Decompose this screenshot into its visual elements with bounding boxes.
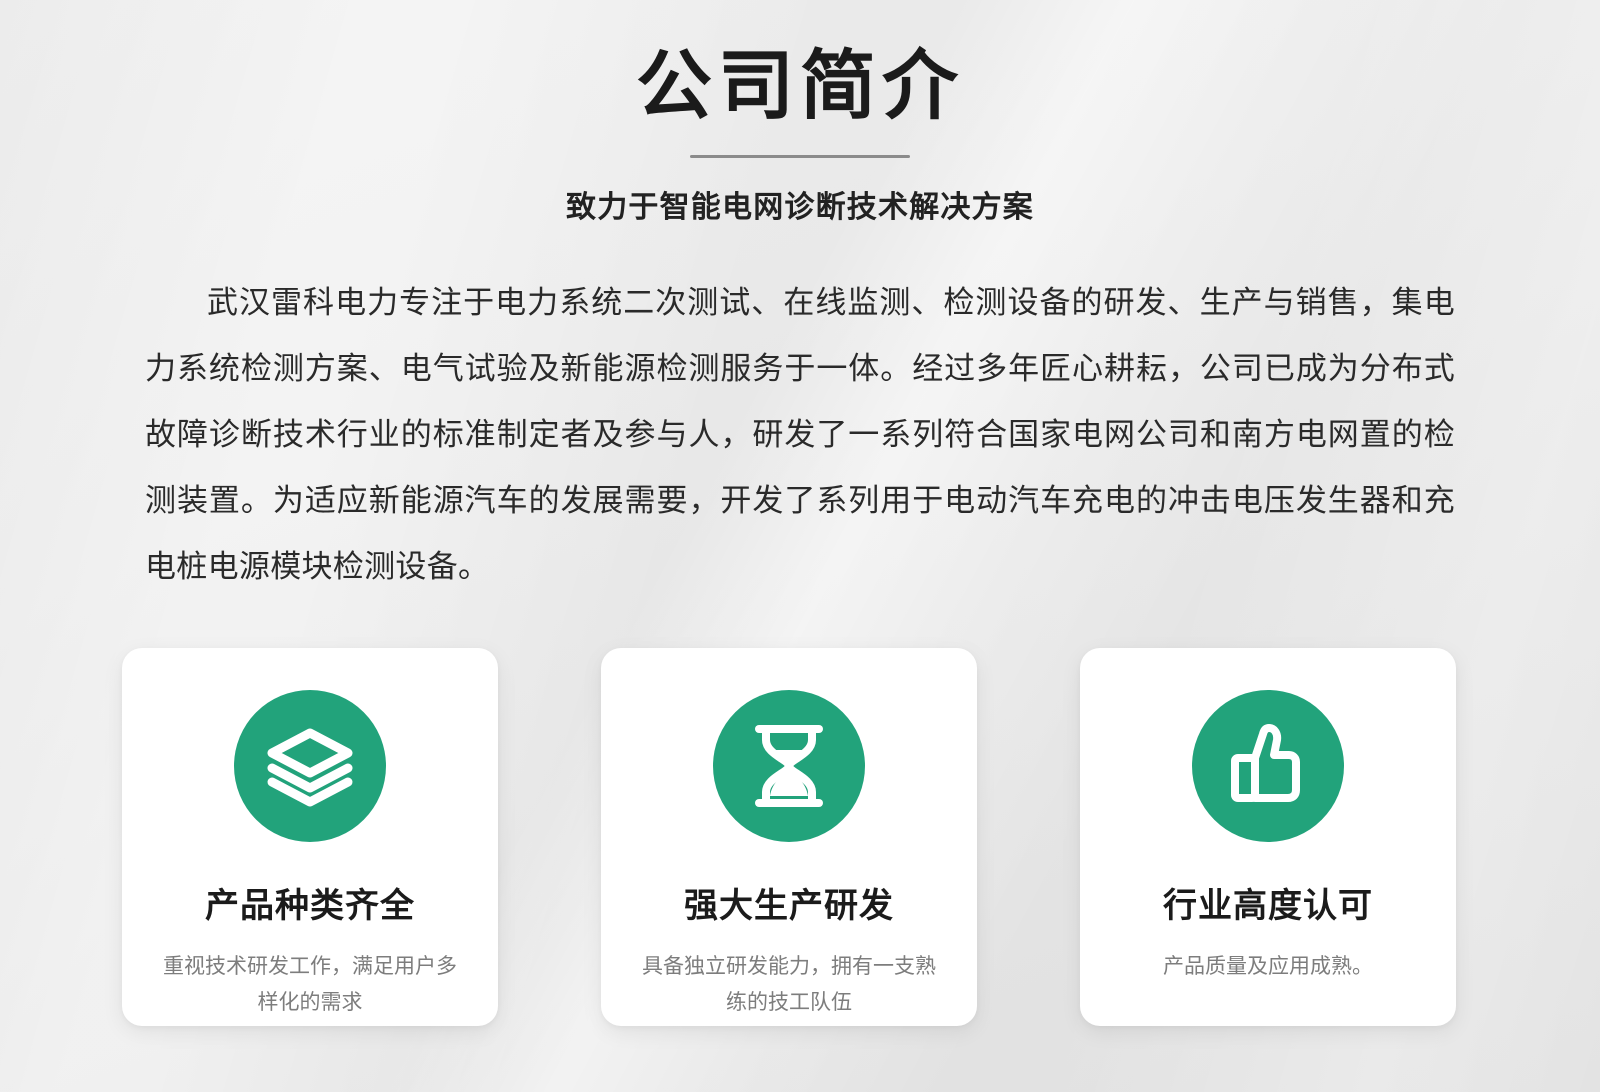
- feature-card-industry-recognition[interactable]: 行业高度认可 产品质量及应用成熟。: [1080, 648, 1456, 1026]
- card-description: 产品质量及应用成熟。: [1118, 949, 1418, 985]
- card-description: 重视技术研发工作，满足用户多样化的需求: [160, 949, 460, 1021]
- feature-card-rnd-capability[interactable]: 强大生产研发 具备独立研发能力，拥有一支熟练的技工队伍: [601, 648, 977, 1026]
- hourglass-icon: [743, 720, 835, 812]
- thumbs-up-icon: [1222, 720, 1314, 812]
- company-profile-section: 公司简介 致力于智能电网诊断技术解决方案 武汉雷科电力专注于电力系统二次测试、在…: [0, 0, 1600, 1092]
- card-title: 行业高度认可: [1163, 878, 1373, 927]
- page-subtitle: 致力于智能电网诊断技术解决方案: [0, 182, 1600, 226]
- card-title: 强大生产研发: [684, 878, 894, 927]
- icon-circle: [1192, 690, 1344, 842]
- feature-card-product-variety[interactable]: 产品种类齐全 重视技术研发工作，满足用户多样化的需求: [122, 648, 498, 1026]
- company-intro-paragraph: 武汉雷科电力专注于电力系统二次测试、在线监测、检测设备的研发、生产与销售，集电力…: [145, 270, 1455, 600]
- feature-card-list: 产品种类齐全 重视技术研发工作，满足用户多样化的需求: [122, 648, 1456, 1026]
- page-title: 公司简介: [0, 44, 1600, 129]
- card-title: 产品种类齐全: [205, 878, 415, 927]
- layers-icon: [264, 720, 356, 812]
- icon-circle: [713, 690, 865, 842]
- icon-circle: [234, 690, 386, 842]
- card-description: 具备独立研发能力，拥有一支熟练的技工队伍: [639, 949, 939, 1021]
- title-divider: [690, 155, 910, 158]
- section-header: 公司简介 致力于智能电网诊断技术解决方案: [0, 0, 1600, 226]
